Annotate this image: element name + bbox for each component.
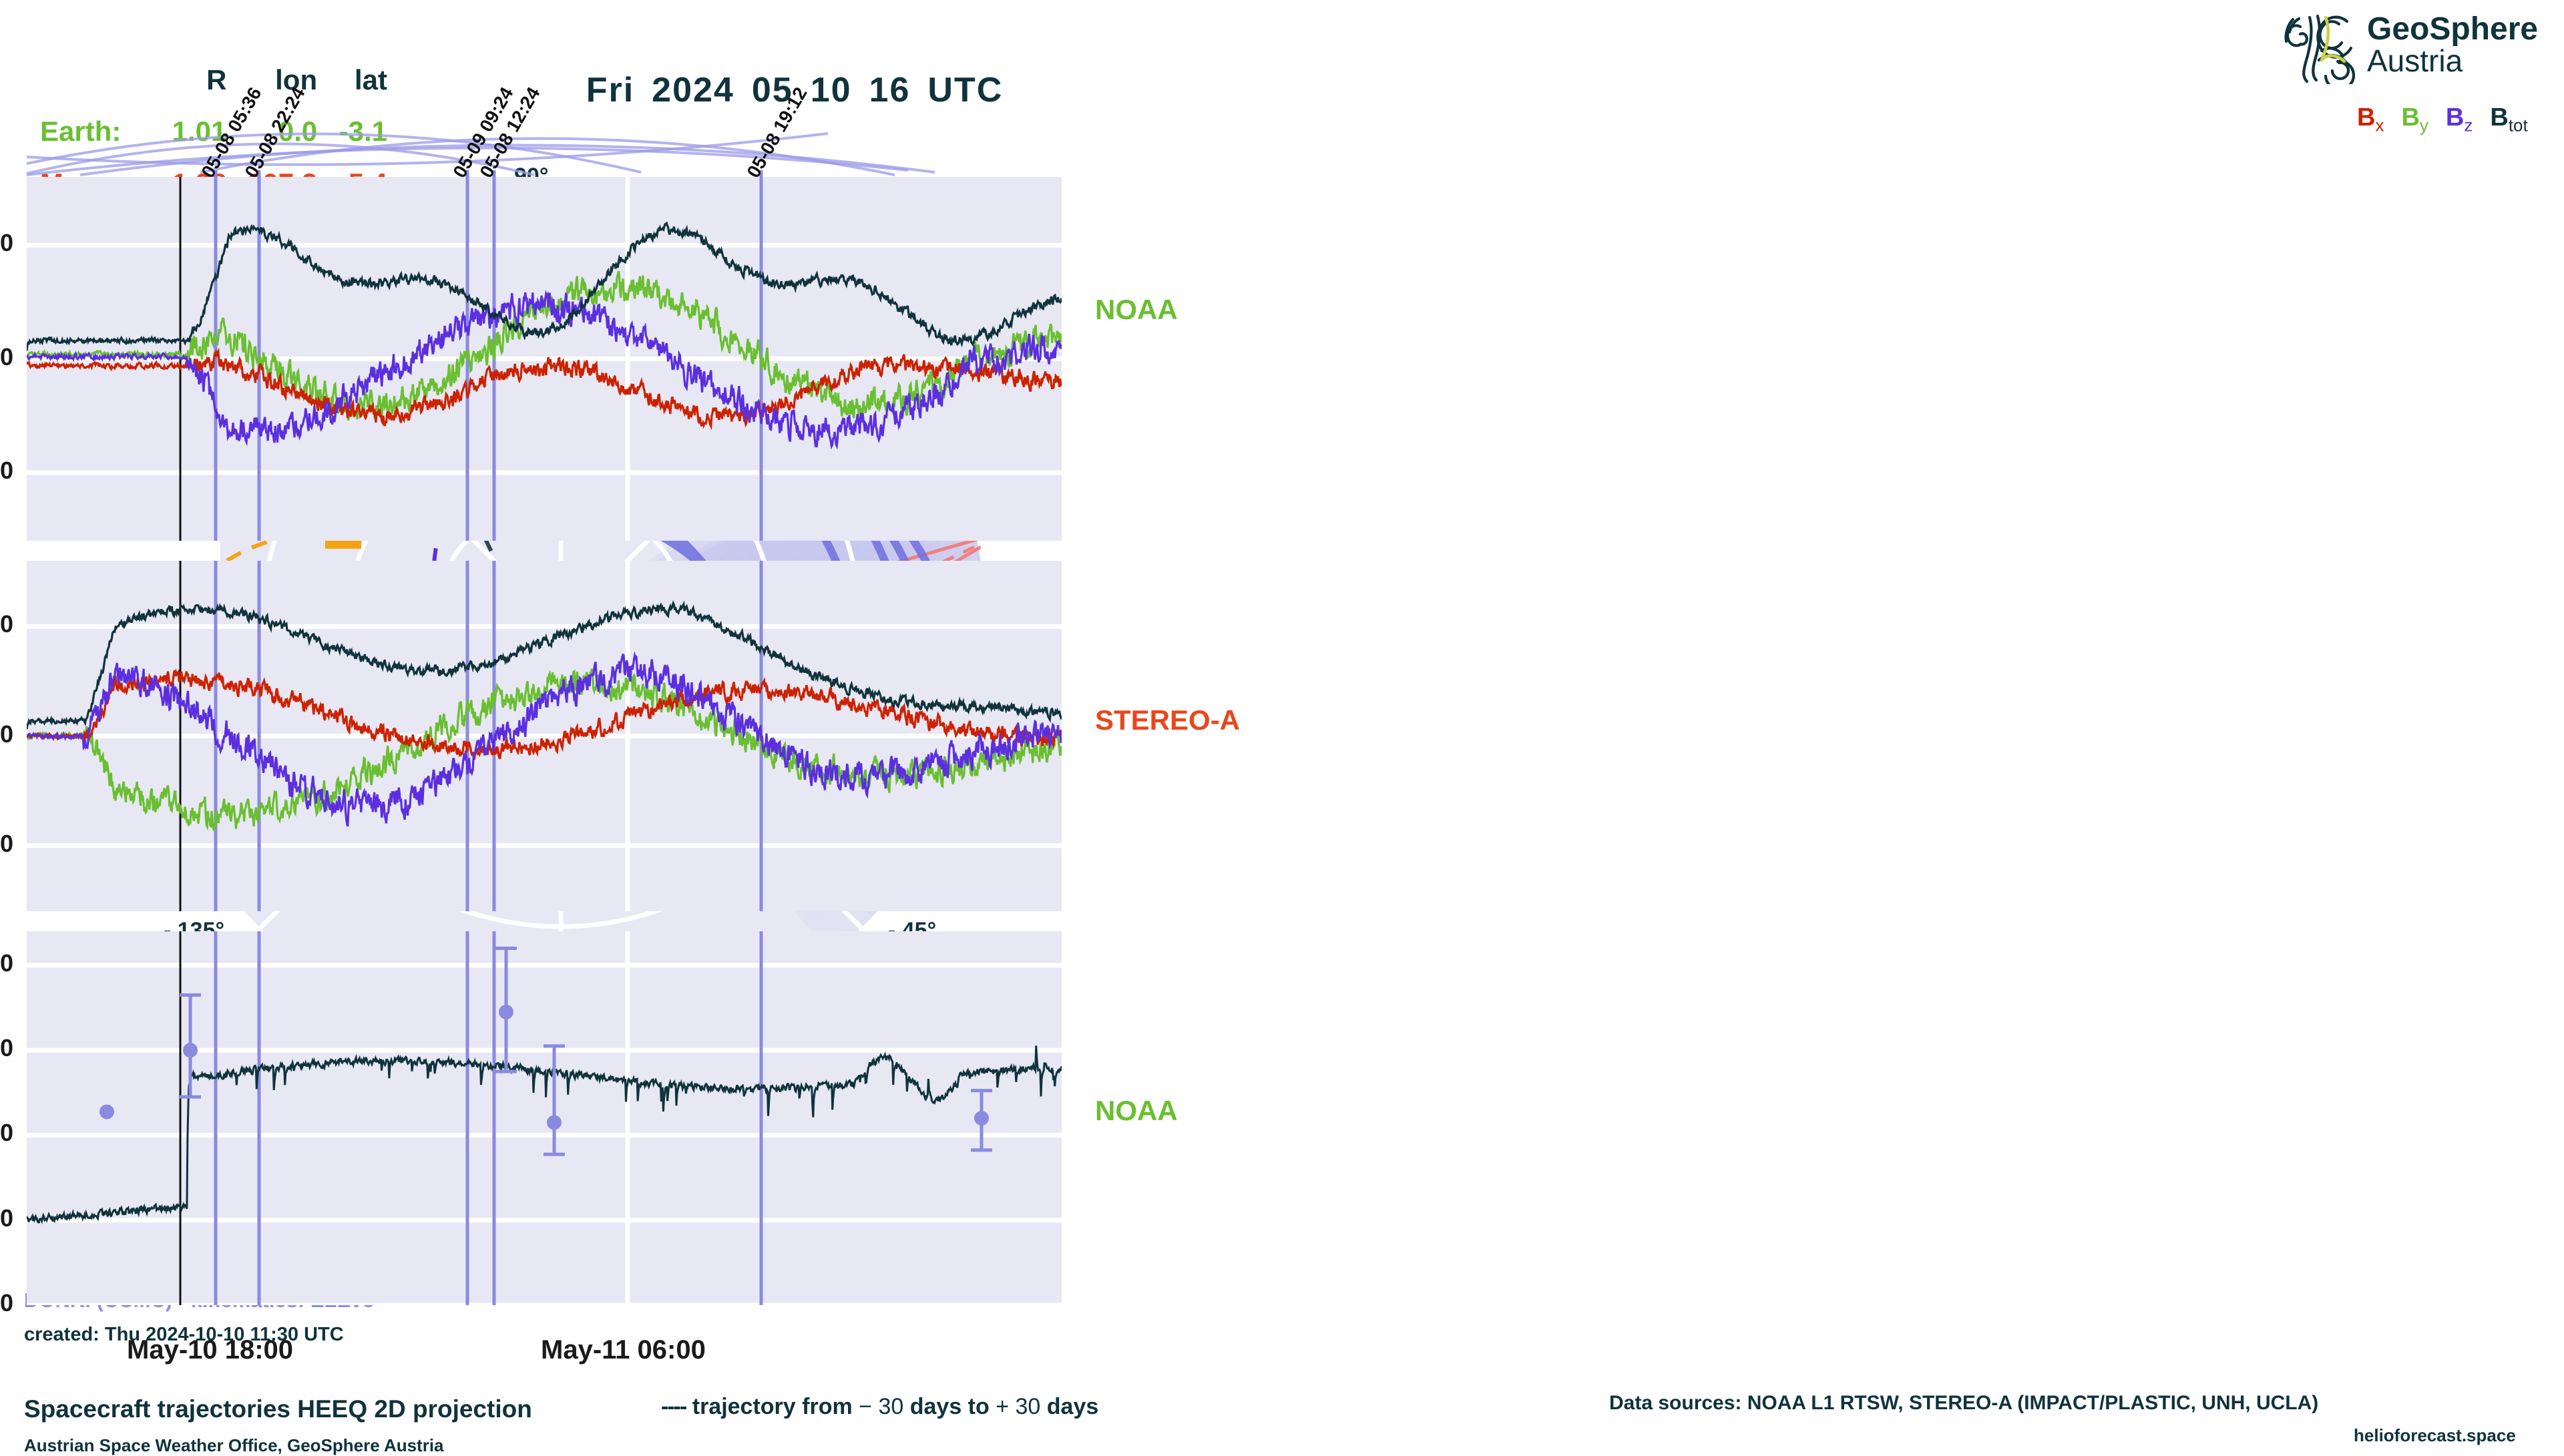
ytick-mid-1: 0: [0, 720, 13, 748]
trajectory-legend-c: days to: [903, 1394, 996, 1419]
trajectory-legend-a: trajectory from: [686, 1394, 859, 1419]
legend-item-by: By: [2401, 103, 2428, 132]
logo-line-2: Austria: [2367, 45, 2538, 76]
trajectory-legend-e: days: [1040, 1394, 1098, 1419]
trajectory-legend-from: − 30: [859, 1394, 903, 1419]
legend-item-btot: Btot: [2490, 103, 2527, 132]
geosphere-mark-icon: [2280, 12, 2359, 84]
ytick-bot-0: 1000: [0, 949, 13, 977]
data-sources-label: Data sources: NOAA L1 RTSW, STEREO-A (IM…: [1609, 1392, 2318, 1415]
panel-stereoa-magnetic-field: [27, 561, 1062, 911]
magnetic-field-legend: BxByBzBtot: [2357, 103, 2545, 136]
timeseries-charts: 05-08 05:3605-08 22:2405-09 09:2405-08 1…: [0, 0, 1148, 1442]
ytick-mid-0: 50: [0, 610, 13, 638]
panel-noaa-velocity: [27, 931, 1062, 1305]
ytick-bot-1: 800: [0, 1034, 13, 1062]
ytick-bot-3: 400: [0, 1204, 13, 1232]
panel-label-stereoa: STEREO-A: [1095, 704, 1240, 736]
trajectory-legend-to: + 30: [996, 1394, 1040, 1419]
geosphere-logo: GeoSphere Austria: [2280, 12, 2561, 85]
legend-item-bx: Bx: [2357, 103, 2384, 132]
legend-item-bz: Bz: [2446, 103, 2473, 132]
stereoa-b-field-svg: [27, 561, 1062, 911]
helioforecast-credit: helioforecast.space: [2354, 1425, 2516, 1446]
trajectory-legend-dash: ----: [661, 1394, 686, 1419]
panel-label-noaa-bottom: NOAA: [1095, 1095, 1178, 1127]
trajectory-legend: ---- trajectory from − 30 days to + 30 d…: [661, 1394, 1098, 1420]
panel-label-noaa-top: NOAA: [1095, 294, 1178, 326]
ytick-bot-4: 200: [0, 1289, 13, 1317]
xtick-0: May-10 18:00: [127, 1335, 293, 1365]
ytick-top-1: 0: [0, 343, 13, 371]
cme-arrival-arcs: [0, 0, 1148, 187]
ytick-top-0: 50: [0, 229, 13, 257]
noaa-velocity-svg: [27, 931, 1062, 1305]
ytick-top-2: −50: [0, 457, 13, 485]
trajectory-caption: Spacecraft trajectories HEEQ 2D projecti…: [24, 1395, 532, 1423]
panel-noaa-magnetic-field: [27, 177, 1062, 541]
ytick-bot-2: 600: [0, 1119, 13, 1147]
logo-line-1: GeoSphere: [2367, 13, 2538, 45]
geosphere-logo-text: GeoSphere Austria: [2367, 13, 2538, 76]
xtick-1: May-11 06:00: [541, 1335, 706, 1365]
noaa-b-field-svg: [27, 177, 1062, 541]
office-credit: Austrian Space Weather Office, GeoSphere…: [24, 1435, 444, 1456]
ytick-mid-2: −50: [0, 830, 13, 858]
